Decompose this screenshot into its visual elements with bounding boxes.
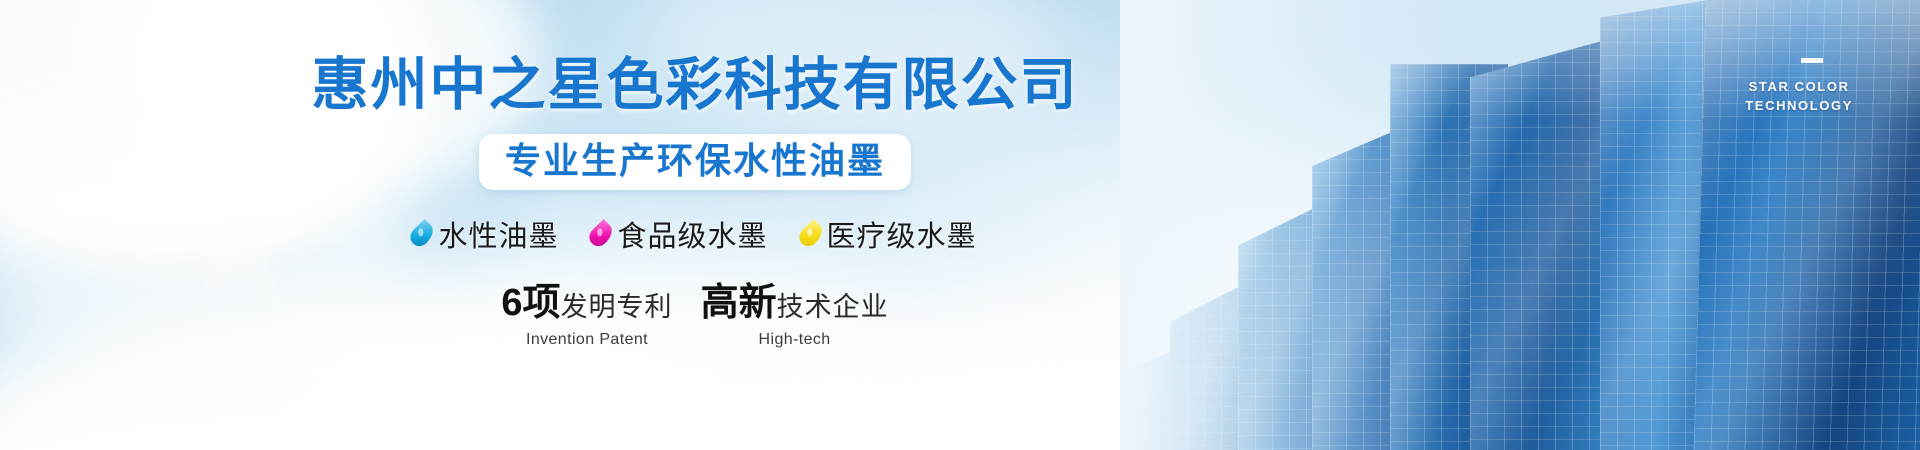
credential-english: High-tech: [759, 331, 831, 349]
feature-label: 水性油墨: [438, 213, 558, 255]
credential-english: Invention Patent: [526, 331, 648, 349]
feature-item: 医疗级水墨: [802, 213, 977, 255]
credential-emphasis: 高新: [701, 284, 777, 322]
credentials-list: 6项 发明专利 Invention Patent 高新 技术企业 High-te…: [501, 284, 888, 349]
credential-detail: 发明专利: [561, 294, 673, 321]
credential-item: 6项 发明专利 Invention Patent: [501, 284, 672, 349]
tagline-text: 专业生产环保水性油墨: [505, 141, 885, 181]
feature-label: 食品级水墨: [617, 213, 767, 255]
ink-drop-icon: [407, 219, 438, 250]
product-feature-list: 水性油墨 食品级水墨 医疗级水墨: [413, 213, 976, 255]
company-name-headline: 惠州中之星色彩科技有限公司: [312, 57, 1079, 114]
feature-label: 医疗级水墨: [827, 213, 977, 255]
brandmark-line-1: STAR COLOR: [1745, 77, 1853, 96]
tagline-badge: 专业生产环保水性油墨: [479, 134, 911, 190]
ink-drop-icon: [586, 219, 617, 250]
credential-emphasis: 6项: [501, 284, 560, 322]
credential-chinese: 6项 发明专利: [501, 284, 672, 322]
ink-drop-icon: [795, 219, 826, 250]
promotional-banner: STAR COLOR TECHNOLOGY ★ Star Color 惠州中之星…: [0, 0, 1920, 450]
credential-item: 高新 技术企业 High-tech: [701, 284, 889, 349]
brandmark-dash: [1801, 58, 1823, 63]
credential-chinese: 高新 技术企业: [701, 284, 889, 322]
brandmark-line-2: TECHNOLOGY: [1745, 96, 1853, 115]
credential-detail: 技术企业: [777, 294, 889, 321]
feature-item: 食品级水墨: [592, 213, 767, 255]
feature-item: 水性油墨: [413, 213, 558, 255]
brandmark-star-color-technology: STAR COLOR TECHNOLOGY: [1745, 77, 1853, 115]
banner-content: 惠州中之星色彩科技有限公司 专业生产环保水性油墨 水性油墨 食品级水墨 医疗级水…: [0, 0, 1390, 450]
